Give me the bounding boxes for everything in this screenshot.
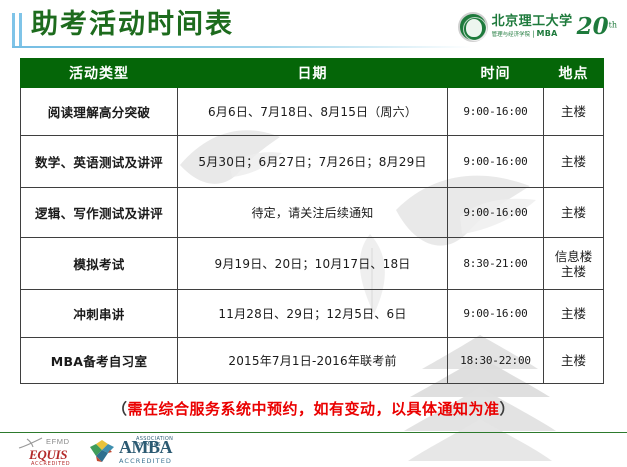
- cell-date: 6月6日、7月18日、8月15日（周六）: [178, 88, 448, 136]
- table-row: 模拟考试 9月19日、20日；10月17日、18日 8:30-21:00 信息楼…: [21, 238, 604, 290]
- footnote-close-paren: ）: [500, 400, 516, 418]
- bit-mba-logo: 北京理工大学 管理与经济学院 | MBA 20th: [458, 10, 617, 44]
- amba-accredited-label: ACCREDITED: [119, 457, 172, 465]
- cell-location: 主楼: [544, 136, 604, 188]
- column-header-location: 地点: [544, 59, 604, 88]
- footnote-text: 需在综合服务系统中预约，如有变动，以具体通知为准: [127, 400, 499, 418]
- cell-location: 主楼: [544, 290, 604, 338]
- brand-divider: |: [532, 30, 534, 39]
- bit-seal-icon: [458, 12, 488, 42]
- school-name: 管理与经济学院: [492, 31, 531, 40]
- table-row: 冲刺串讲 11月28日、29日；12月5日、6日 9:00-16:00 主楼: [21, 290, 604, 338]
- school-line: 管理与经济学院 | MBA: [492, 29, 573, 40]
- cell-activity-type: 逻辑、写作测试及讲评: [21, 188, 178, 238]
- efmd-label: EFMD: [46, 437, 70, 446]
- anniversary-mark: 20th: [577, 15, 617, 39]
- cell-location: 主楼: [544, 88, 604, 136]
- schedule-table-container: 活动类型 日期 时间 地点 阅读理解高分突破 6月6日、7月18日、8月15日（…: [20, 58, 603, 384]
- table-row: MBA备考自习室 2015年7月1日-2016年联考前 18:30-22:00 …: [21, 338, 604, 384]
- title-accent-bars: [12, 13, 26, 47]
- table-header-row: 活动类型 日期 时间 地点: [21, 59, 604, 88]
- column-header-activity-type: 活动类型: [21, 59, 178, 88]
- cell-location: 主楼: [544, 338, 604, 384]
- equis-accredited-label: ACCREDITED: [31, 461, 70, 467]
- anniversary-suffix: th: [609, 21, 617, 30]
- footnote-open-paren: （: [112, 400, 128, 418]
- cell-activity-type: 数学、英语测试及讲评: [21, 136, 178, 188]
- cell-date: 2015年7月1日-2016年联考前: [178, 338, 448, 384]
- cell-time: 9:00-16:00: [448, 136, 544, 188]
- cell-activity-type: 模拟考试: [21, 238, 178, 290]
- cell-activity-type: MBA备考自习室: [21, 338, 178, 384]
- brand-wordmark: 北京理工大学 管理与经济学院 | MBA: [492, 15, 573, 40]
- amba-association-line2: OF MBAS: [136, 442, 161, 448]
- cell-location-line2: 主楼: [561, 264, 586, 279]
- cell-activity-type: 阅读理解高分突破: [21, 88, 178, 136]
- column-header-date: 日期: [178, 59, 448, 88]
- cell-date: 5月30日；6月27日；7月26日；8月29日: [178, 136, 448, 188]
- anniversary-number: 20: [577, 13, 609, 40]
- column-header-time: 时间: [448, 59, 544, 88]
- table-row: 逻辑、写作测试及讲评 待定，请关注后续通知 9:00-16:00 主楼: [21, 188, 604, 238]
- cell-location: 信息楼 主楼: [544, 238, 604, 290]
- cell-time: 8:30-21:00: [448, 238, 544, 290]
- cell-location-line1: 信息楼: [555, 249, 593, 264]
- program-name: MBA: [536, 29, 557, 38]
- title-underline: [12, 46, 472, 48]
- amba-association-line: ASSOCIATION OF MBAS: [136, 437, 173, 448]
- amba-gem-icon: [88, 438, 116, 464]
- amba-logo: ASSOCIATION OF MBAS AMBA ACCREDITED: [88, 436, 188, 466]
- cell-time: 9:00-16:00: [448, 88, 544, 136]
- cell-time: 9:00-16:00: [448, 290, 544, 338]
- table-row: 数学、英语测试及讲评 5月30日；6月27日；7月26日；8月29日 9:00-…: [21, 136, 604, 188]
- cell-location: 主楼: [544, 188, 604, 238]
- cell-date: 11月28日、29日；12月5日、6日: [178, 290, 448, 338]
- page-title: 助考活动时间表: [31, 6, 234, 44]
- footer-divider: [0, 432, 627, 433]
- accreditation-logos: EFMD EQUIS ACCREDITED ASSOCIATION OF MBA…: [18, 436, 188, 467]
- university-name: 北京理工大学: [492, 15, 573, 29]
- cell-date: 待定，请关注后续通知: [178, 188, 448, 238]
- cell-date: 9月19日、20日；10月17日、18日: [178, 238, 448, 290]
- table-row: 阅读理解高分突破 6月6日、7月18日、8月15日（周六） 9:00-16:00…: [21, 88, 604, 136]
- cell-time: 9:00-16:00: [448, 188, 544, 238]
- schedule-table: 活动类型 日期 时间 地点 阅读理解高分突破 6月6日、7月18日、8月15日（…: [20, 58, 604, 384]
- cell-time: 18:30-22:00: [448, 338, 544, 384]
- cell-activity-type: 冲刺串讲: [21, 290, 178, 338]
- amba-wordmark: ASSOCIATION OF MBAS AMBA ACCREDITED: [119, 436, 172, 465]
- equis-logo: EFMD EQUIS ACCREDITED: [18, 436, 74, 466]
- footnote-note: （需在综合服务系统中预约，如有变动，以具体通知为准）: [0, 398, 627, 419]
